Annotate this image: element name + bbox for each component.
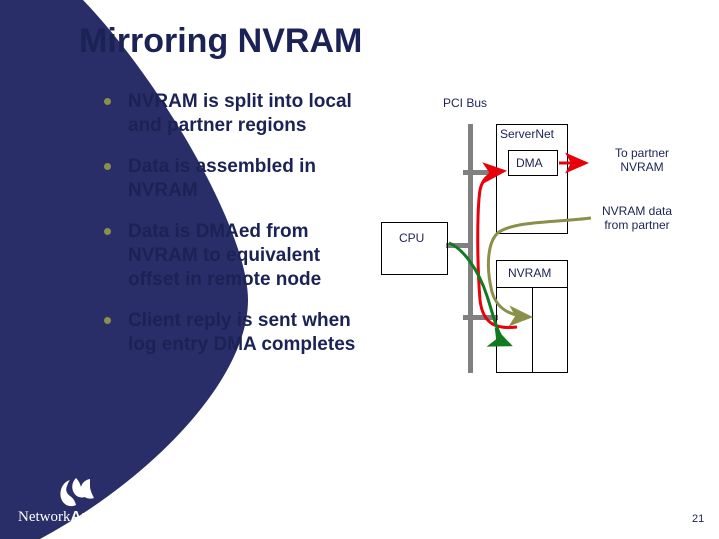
architecture-diagram: PCI Bus ServerNet DMA CPU NVRAM — [0, 0, 719, 539]
diagram-arrows — [0, 0, 719, 539]
logo-name-part1: Network — [18, 509, 71, 525]
logo-trademark: ® — [142, 508, 148, 517]
to-partner-nvram-label: To partner NVRAM — [600, 146, 684, 174]
slide: Mirroring NVRAM NVRAM is split into loca… — [0, 0, 719, 539]
from-partner-line-2: from partner — [589, 218, 685, 232]
olive-arrow-partner-to-nvram — [488, 218, 591, 317]
page-number: 21 — [692, 513, 704, 525]
logo-wordmark: NetworkAppliance® — [18, 508, 148, 526]
to-partner-line-2: NVRAM — [600, 160, 684, 174]
logo-name-part2: Appliance — [71, 508, 143, 525]
nvram-data-from-partner-label: NVRAM data from partner — [589, 204, 685, 232]
from-partner-line-1: NVRAM data — [589, 204, 685, 218]
to-partner-line-1: To partner — [600, 146, 684, 160]
